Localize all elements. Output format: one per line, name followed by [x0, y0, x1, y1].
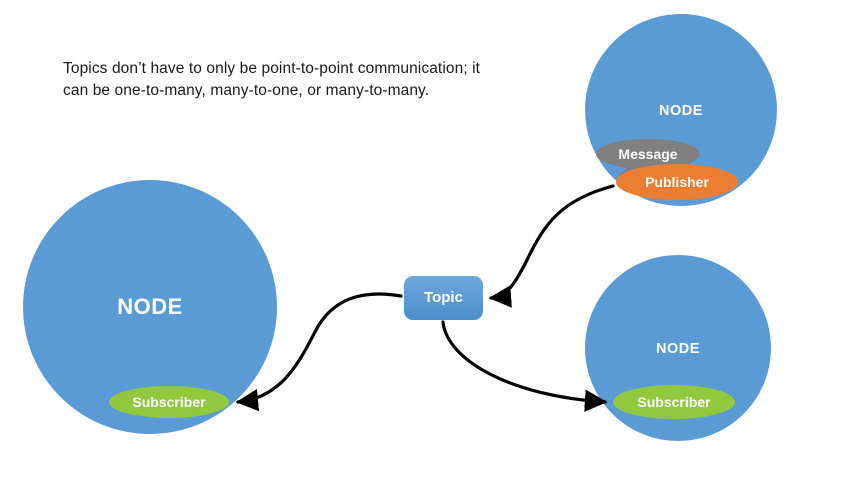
diagram-canvas: Topics don’t have to only be point-to-po…: [0, 0, 854, 480]
subscriber-ellipse-left[interactable]: [109, 386, 229, 418]
subscriber-ellipse-bottom-right[interactable]: [613, 385, 735, 419]
publisher-ellipse[interactable]: [616, 164, 738, 200]
caption-text: Topics don’t have to only be point-to-po…: [63, 58, 483, 103]
arrow-topic-to-bottom-right-subscriber: [443, 322, 605, 402]
arrow-publisher-to-topic: [491, 186, 613, 298]
topic-box-shape[interactable]: [404, 276, 483, 320]
